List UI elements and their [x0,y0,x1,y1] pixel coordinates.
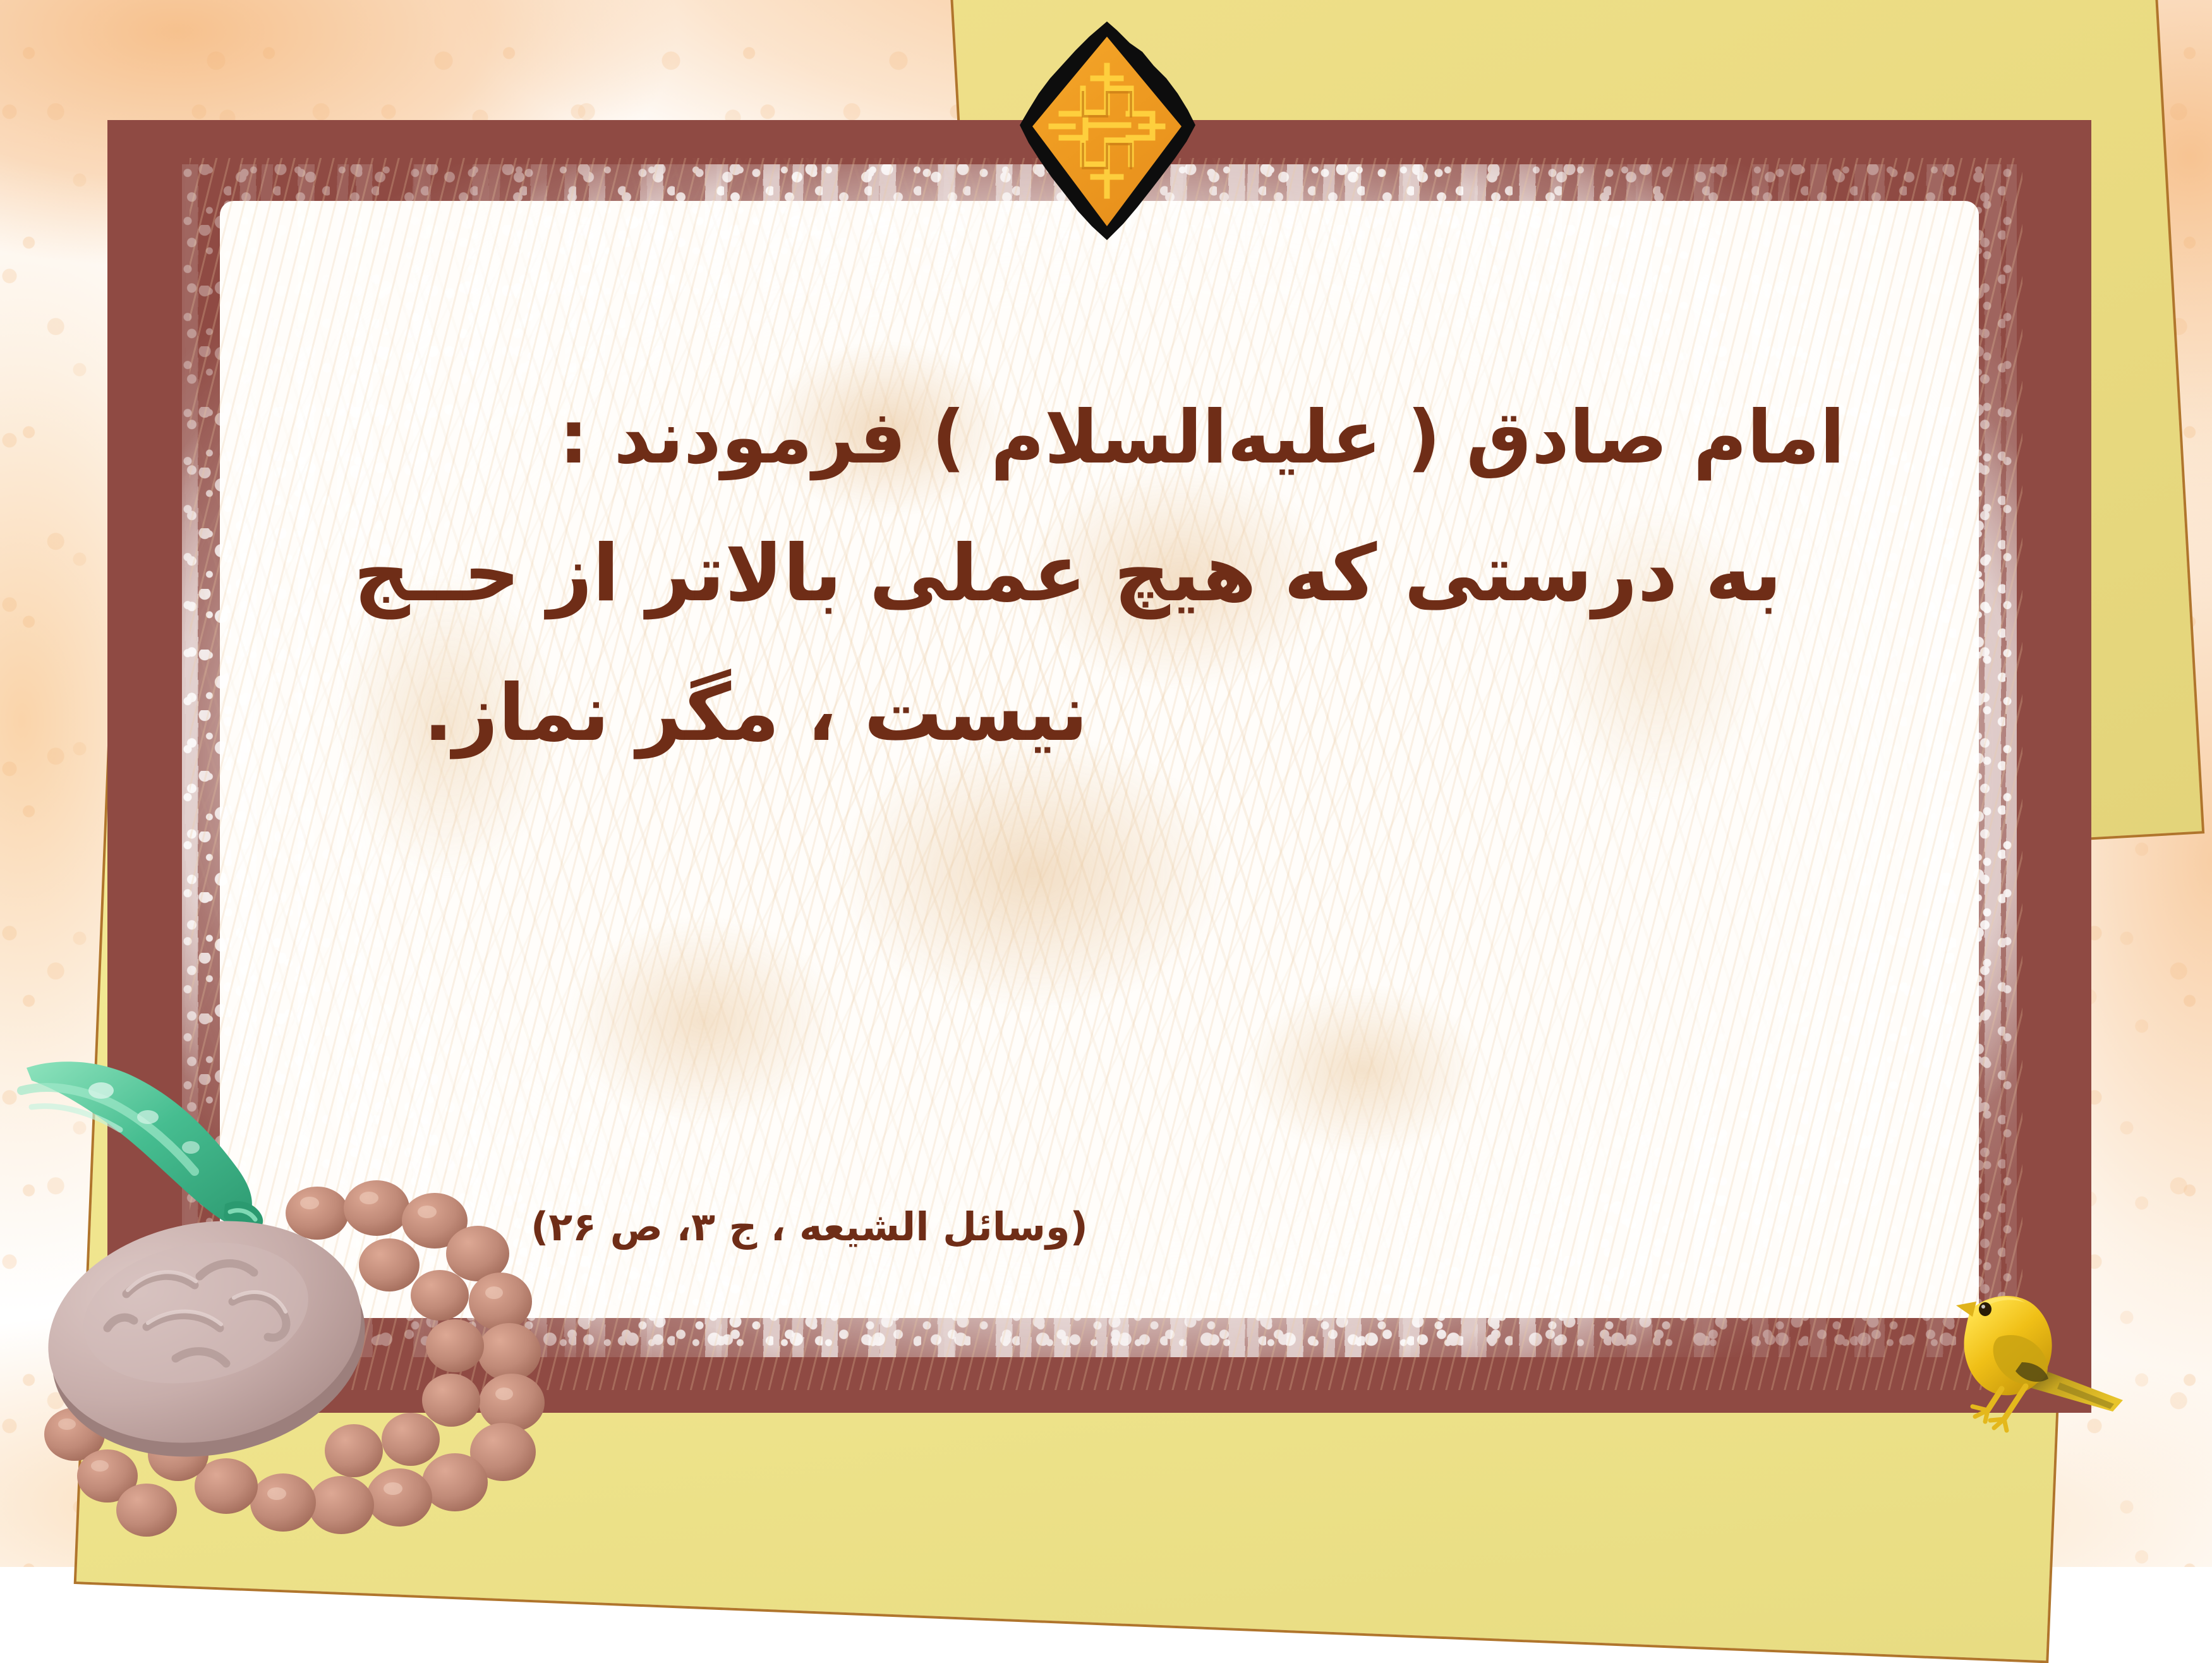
hadith-body-line-2: نیست ، مگر نماز. [272,665,1864,763]
kufic-diamond-medallion-icon [1012,18,1202,245]
prayer-beads-icon [13,1030,569,1554]
hadith-speaker-line: امام صادق ( علیه‌السلام ) فرمودند : [272,392,1864,483]
hadith-citation: (وسائل الشیعه ، ج ۳، ص ۲۶) [531,1204,1088,1250]
hadith-text-block: امام صادق ( علیه‌السلام ) فرمودند : به د… [272,392,1864,763]
hadith-body-line-1: به درستی که هیچ عملی بالاتر از حــج [272,525,1864,623]
green-tassel-icon [21,1061,263,1231]
canary-bird-icon [1933,1270,2148,1453]
